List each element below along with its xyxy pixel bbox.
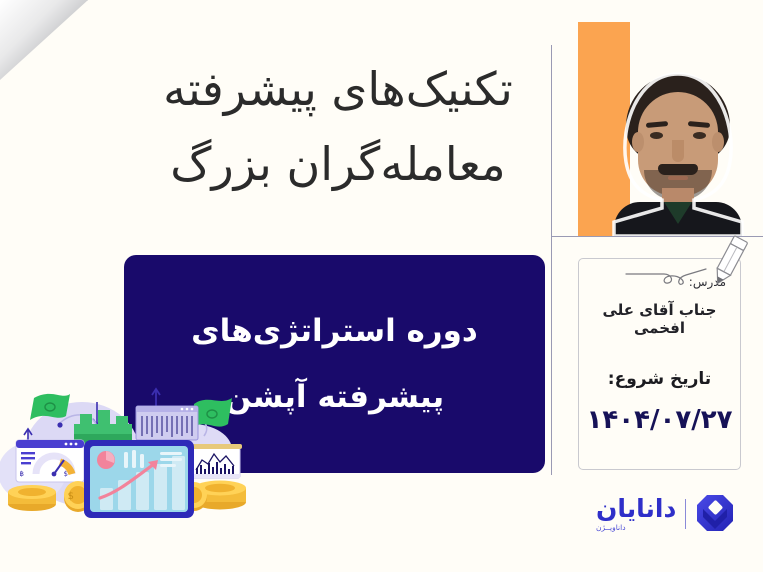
- svg-text:$: $: [64, 470, 68, 478]
- brand-separator: [685, 499, 686, 529]
- page-fold-edge-icon: [0, 0, 88, 80]
- course-title-line-1: دوره استراتژی‌های: [191, 313, 478, 349]
- instructor-name: جناب آقای علی افخمی: [579, 301, 740, 337]
- brand-tagline: داناویــژن: [596, 524, 626, 532]
- start-date-value: ۱۴۰۴/۰۷/۲۷: [579, 405, 740, 435]
- headline-line-2: معامله‌گران بزرگ: [128, 127, 548, 202]
- instructor-photo: [608, 70, 748, 236]
- pencil-icon: [700, 232, 758, 290]
- squiggle-line-icon: [624, 266, 708, 288]
- brand-name: دانایان: [596, 496, 676, 521]
- start-date-label: تاریخ شروع:: [579, 369, 740, 389]
- vertical-divider: [551, 45, 552, 475]
- headline-line-1: تکنیک‌های پیشرفته: [128, 52, 548, 127]
- brand-logo[interactable]: دانایان داناویــژن: [596, 488, 748, 540]
- brand-mark-icon: [695, 493, 735, 535]
- svg-text:$: $: [68, 491, 74, 502]
- brand-text: دانایان داناویــژن: [596, 496, 676, 532]
- svg-text:฿: ฿: [20, 470, 24, 478]
- headline: تکنیک‌های پیشرفته معامله‌گران بزرگ: [128, 52, 548, 201]
- finance-illustration: ฿ $: [0, 376, 264, 528]
- banner-canvas: تکنیک‌های پیشرفته معامله‌گران بزرگ دوره …: [0, 0, 763, 572]
